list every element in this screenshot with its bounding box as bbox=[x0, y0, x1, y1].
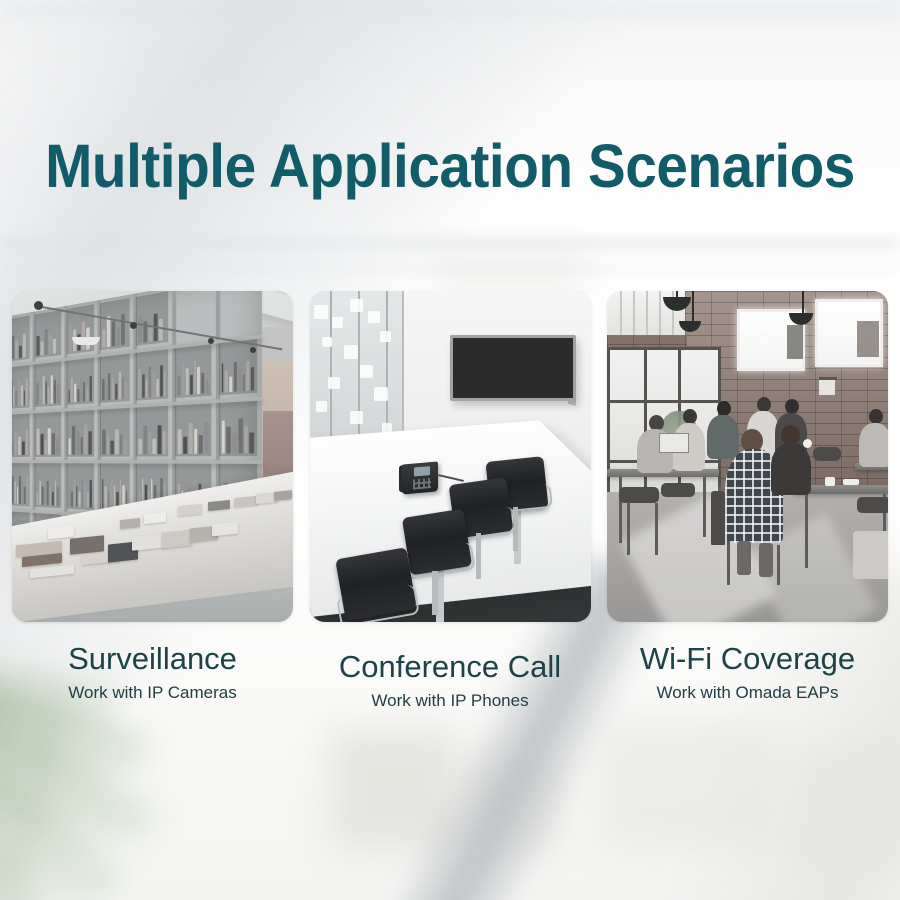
background-blur-blob-3 bbox=[600, 720, 780, 850]
caption-surveillance: Surveillance Work with IP Cameras bbox=[12, 640, 293, 706]
caption-wifi-coverage: Wi-Fi Coverage Work with Omada EAPs bbox=[607, 640, 888, 706]
caption-title-conference-call: Conference Call bbox=[310, 648, 591, 686]
caption-subtitle-conference-call: Work with IP Phones bbox=[310, 688, 591, 714]
application-scenarios-banner: Multiple Application Scenarios bbox=[0, 0, 900, 900]
wall-mounted-display bbox=[450, 335, 576, 401]
wifi-coverage-photo bbox=[607, 291, 888, 622]
page-title: Multiple Application Scenarios bbox=[32, 136, 869, 197]
surveillance-photo bbox=[12, 291, 293, 622]
caption-conference-call: Conference Call Work with IP Phones bbox=[310, 648, 591, 714]
background-blur-blob-top bbox=[430, 250, 590, 296]
caption-subtitle-wifi-coverage: Work with Omada EAPs bbox=[607, 680, 888, 706]
caption-title-surveillance: Surveillance bbox=[12, 640, 293, 678]
ip-phone bbox=[402, 461, 438, 494]
conference-call-photo bbox=[310, 291, 591, 622]
scenario-card-conference-call[interactable] bbox=[310, 291, 591, 622]
scenario-caption-row: Surveillance Work with IP Cameras Confer… bbox=[12, 640, 888, 706]
background-blur-blob-4 bbox=[790, 745, 900, 865]
caption-title-wifi-coverage: Wi-Fi Coverage bbox=[607, 640, 888, 678]
scenario-card-wifi-coverage[interactable] bbox=[607, 291, 888, 622]
scenario-card-row bbox=[12, 291, 888, 622]
caption-subtitle-surveillance: Work with IP Cameras bbox=[12, 680, 293, 706]
scenario-card-surveillance[interactable] bbox=[12, 291, 293, 622]
